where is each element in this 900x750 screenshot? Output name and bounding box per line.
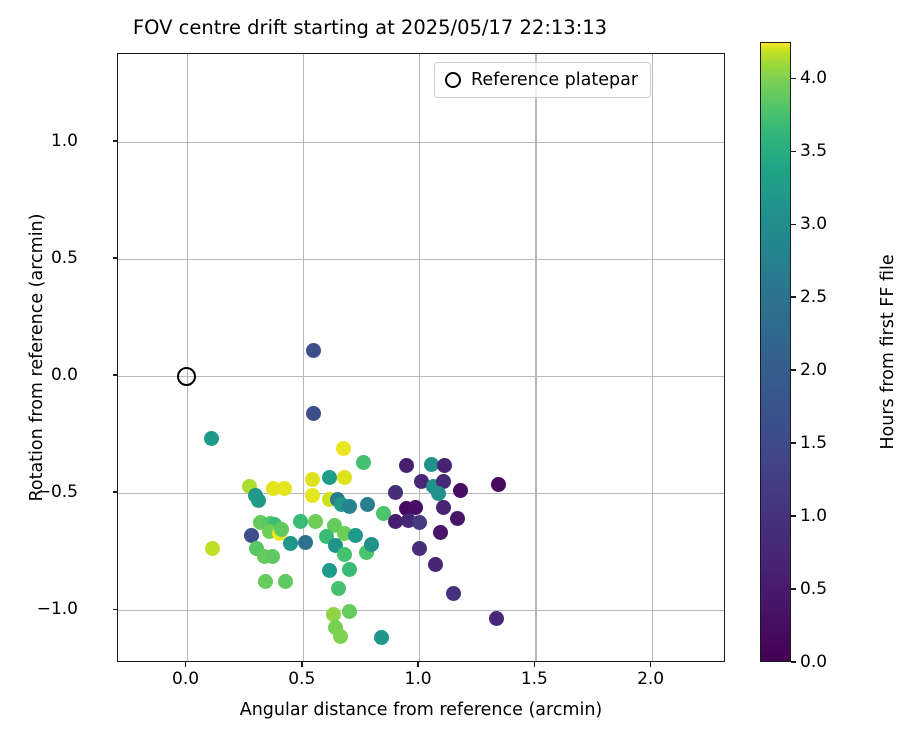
x-tick-mark-4 xyxy=(650,662,652,667)
plot-area xyxy=(117,53,725,662)
reference-platepar-marker xyxy=(177,367,196,386)
colorbar-tick-label-4: 2.0 xyxy=(800,360,827,380)
y-tick-mark-3 xyxy=(113,491,118,493)
colorbar-tick-mark-7 xyxy=(791,151,796,153)
colorbar-tick-label-3: 1.5 xyxy=(800,433,827,453)
legend-label: Reference platepar xyxy=(471,70,638,90)
x-tick-label-1: 0.5 xyxy=(288,669,315,689)
colorbar-tick-label-1: 0.5 xyxy=(800,579,827,599)
x-tick-label-0: 0.0 xyxy=(172,669,199,689)
colorbar: 0.00.51.01.52.02.53.03.54.0 xyxy=(760,42,791,662)
y-axis-label: Rotation from reference (arcmin) xyxy=(27,53,47,662)
colorbar-tick-mark-8 xyxy=(791,78,796,80)
x-tick-mark-3 xyxy=(534,662,536,667)
x-tick-mark-1 xyxy=(301,662,303,667)
legend: Reference platepar xyxy=(434,62,651,98)
y-tick-label-0: 1.0 xyxy=(51,131,78,151)
y-tick-mark-1 xyxy=(113,257,118,259)
colorbar-tick-mark-3 xyxy=(791,442,796,444)
colorbar-tick-mark-6 xyxy=(791,224,796,226)
x-tick-mark-0 xyxy=(185,662,187,667)
x-tick-label-3: 1.5 xyxy=(521,669,548,689)
chart-figure: FOV centre drift starting at 2025/05/17 … xyxy=(0,0,900,750)
colorbar-tick-mark-1 xyxy=(791,588,796,590)
colorbar-tick-label-7: 3.5 xyxy=(800,141,827,161)
y-tick-mark-4 xyxy=(113,609,118,611)
x-axis-label: Angular distance from reference (arcmin) xyxy=(117,700,725,720)
colorbar-tick-mark-0 xyxy=(791,661,796,663)
reference-marker-layer xyxy=(118,54,724,661)
colorbar-gradient xyxy=(760,42,791,662)
colorbar-tick-label-5: 2.5 xyxy=(800,287,827,307)
y-tick-mark-0 xyxy=(113,140,118,142)
colorbar-tick-label-8: 4.0 xyxy=(800,68,827,88)
x-tick-mark-2 xyxy=(417,662,419,667)
colorbar-tick-mark-2 xyxy=(791,515,796,517)
colorbar-tick-mark-5 xyxy=(791,296,796,298)
colorbar-tick-label-0: 0.0 xyxy=(800,652,827,672)
chart-title: FOV centre drift starting at 2025/05/17 … xyxy=(0,16,740,39)
y-tick-label-2: 0.0 xyxy=(51,365,78,385)
y-tick-label-1: 0.5 xyxy=(51,248,78,268)
x-tick-label-2: 1.0 xyxy=(405,669,432,689)
colorbar-label: Hours from first FF file xyxy=(878,42,898,662)
colorbar-tick-mark-4 xyxy=(791,369,796,371)
y-tick-mark-2 xyxy=(113,374,118,376)
x-tick-label-4: 2.0 xyxy=(637,669,664,689)
colorbar-tick-label-2: 1.0 xyxy=(800,506,827,526)
legend-marker-open-circle-icon xyxy=(445,72,461,88)
colorbar-tick-label-6: 3.0 xyxy=(800,214,827,234)
